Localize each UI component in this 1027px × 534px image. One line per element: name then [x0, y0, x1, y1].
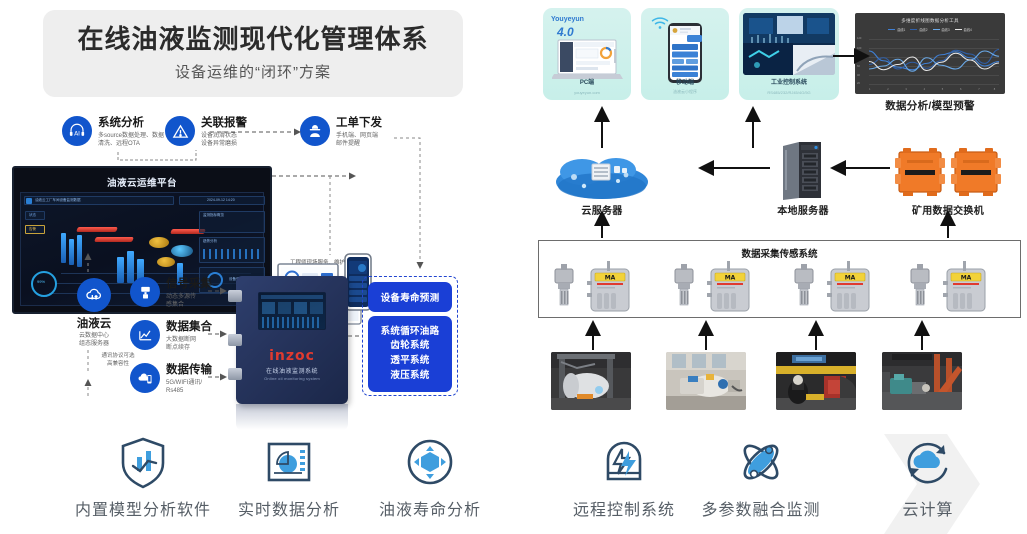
- svg-text:MA: MA: [605, 275, 616, 282]
- chart-legend: 曲线1 曲线2 曲线3 曲线4: [855, 27, 1005, 32]
- bottom-feature-label: 云计算: [843, 496, 1013, 520]
- device-screen: [258, 292, 326, 330]
- prediction-item: 系统循环油路: [381, 325, 440, 340]
- cloud-desc: 云数据中心 组态服务器: [58, 332, 130, 349]
- title-banner: 在线油液监测现代化管理体系 设备运维的“闭环”方案: [43, 10, 463, 97]
- feature-title: 关联报警: [201, 117, 247, 130]
- sensor-pair: MA: [667, 261, 763, 318]
- feature-data-aggregation: 数据集合 大数据断网 断点续存: [130, 320, 212, 352]
- data-chart-icon: [130, 320, 160, 350]
- laptop-icon: [552, 38, 624, 82]
- bottom-feature-label: 油液寿命分析: [345, 496, 515, 520]
- sensor-pair: MA: [547, 261, 643, 318]
- legend-item: 曲线3: [933, 27, 950, 32]
- card-label: 工业控制系统: [739, 77, 839, 86]
- legend-item: 曲线2: [910, 27, 927, 32]
- device-reflection: [236, 404, 348, 430]
- feature-desc: 设备润滑状态 设备异常磨损: [201, 132, 247, 148]
- prediction-systems-list: 系统循环油路 齿轮系统 透平系统 液压系统: [368, 316, 452, 392]
- worker-helmet-icon: [300, 116, 330, 146]
- device-branding: inzoc 在线油液监测系统 Online oil monitoring sys…: [236, 348, 348, 381]
- chart-caption: 数据分析/模型预警: [855, 98, 1005, 113]
- svg-text:MA: MA: [961, 275, 972, 282]
- equipment-photo-belt[interactable]: 皮带机: [882, 352, 962, 410]
- node-label-mining-switch: 矿用数据交换机: [888, 202, 1008, 217]
- equipment-photo-transfer[interactable]: 转载机: [551, 352, 631, 410]
- feature-title: 工单下发: [336, 117, 382, 130]
- feature-title: 系统分析: [98, 117, 164, 130]
- feature-system-analysis: AI 系统分析 多source数据处理、数据 清洗、远程OTA: [62, 116, 164, 148]
- cloud-refresh-icon: [843, 432, 1013, 494]
- smartphone-icon: [667, 22, 703, 84]
- svg-text:MA: MA: [725, 275, 736, 282]
- svg-text:AI: AI: [74, 131, 80, 138]
- feature-title: 数据集合: [166, 321, 212, 334]
- data-acquisition-sensor-system: 数据采集传感系统 MA: [538, 240, 1021, 318]
- dashboard-title: 油液云运维平台: [14, 168, 270, 189]
- feature-data-transfer: 数据传输 5G/WIFI通讯/ Rs485: [130, 363, 212, 395]
- cloud-server-icon: [552, 150, 652, 202]
- feature-desc: 大数据断网 断点续存: [166, 336, 212, 352]
- equipment-photo-crusher[interactable]: 破碎机: [666, 352, 746, 410]
- legend-item: 曲线1: [888, 27, 905, 32]
- sensor-pair: MA: [903, 261, 999, 318]
- ai-headset-icon: AI: [62, 116, 92, 146]
- warning-triangle-icon: [165, 116, 195, 146]
- node-label-cloud-server: 云服务器: [552, 202, 652, 217]
- card-sub: 油液云小程序: [641, 89, 729, 95]
- feature-desc: 5G/WIFI通讯/ Rs485: [166, 379, 212, 395]
- card-sub: youyeyun.com: [543, 90, 631, 95]
- mining-switch-icon: [893, 144, 1003, 200]
- device-name-en: Online oil monitoring system: [236, 376, 348, 381]
- card-brand: Youyeyun: [551, 16, 584, 23]
- page-title: 在线油液监测现代化管理体系: [77, 25, 428, 54]
- brand-name: inzoc: [236, 348, 348, 364]
- feature-title: 信号采集: [166, 278, 212, 291]
- card-label: 移动端: [641, 77, 729, 86]
- feature-title: 数据传输: [166, 364, 212, 377]
- card-version: 4.0: [557, 25, 574, 39]
- device-card-industrial[interactable]: 工业控制系统 RS485/232/RJ45/4G/5G: [739, 8, 839, 100]
- atom-orbit-icon: [676, 432, 846, 494]
- sensor-probe-icon: [130, 277, 160, 307]
- prediction-item: 齿轮系统: [390, 339, 429, 354]
- inzoc-monitoring-device[interactable]: inzoc 在线油液监测系统 Online oil monitoring sys…: [236, 276, 348, 404]
- bottom-feature-cloud-computing[interactable]: 云计算: [843, 432, 1013, 520]
- bottom-feature-label: 多参数融合监测: [676, 496, 846, 520]
- sensor-probe: [555, 264, 573, 305]
- page-subtitle: 设备运维的“闭环”方案: [175, 61, 331, 82]
- feature-signal-acquisition: 信号采集 动态多源传 感集合: [130, 277, 212, 309]
- feature-desc: 手机端、网页端 邮件提醒: [336, 132, 382, 148]
- card-label: PC端: [543, 77, 631, 86]
- node-label-local-server: 本地服务器: [763, 202, 843, 217]
- bottom-feature-row: 内置模型分析软件 实时数据分析: [0, 432, 1027, 534]
- oil-cloud-node: 油液云 云数据中心 组态服务器: [58, 278, 130, 349]
- feature-desc: 动态多源传 感集合: [166, 293, 212, 309]
- feature-linked-alarm: 关联报警 设备润滑状态 设备异常磨损: [165, 116, 247, 148]
- bottom-feature-multiparam-monitoring[interactable]: 多参数融合监测: [676, 432, 846, 520]
- tower-server-icon: [773, 140, 829, 202]
- prediction-header: 设备寿命预测: [368, 282, 452, 312]
- industrial-control-icon: [743, 13, 835, 75]
- infographic-root: 在线油液监测现代化管理体系 设备运维的“闭环”方案 AI 系统分析 多sourc…: [0, 0, 1027, 534]
- prediction-item: 液压系统: [390, 369, 429, 384]
- bottom-feature-builtin-model[interactable]: 内置模型分析软件: [58, 432, 228, 520]
- bottom-feature-oil-life-analysis[interactable]: 油液寿命分析: [345, 432, 515, 520]
- chart-plot-area: 120100 8060 4020 12 34 56 78: [869, 39, 999, 84]
- sensor-box-title: 数据采集传感系统: [539, 241, 1020, 260]
- cloud-title: 油液云: [58, 315, 130, 331]
- prediction-item: 透平系统: [390, 354, 429, 369]
- chart-title: 多维度折线图数据分析工具: [855, 13, 1005, 24]
- cube-arrows-icon: [345, 432, 515, 494]
- sensor-pair: MA: [787, 261, 883, 318]
- device-name-cn: 在线油液监测系统: [236, 366, 348, 375]
- feature-work-order: 工单下发 手机端、网页端 邮件提醒: [300, 116, 382, 148]
- data-transfer-icon: [130, 363, 160, 393]
- svg-text:MA: MA: [845, 275, 856, 282]
- device-card-pc[interactable]: Youyeyun 4.0 PC端 youyeyun.com: [543, 8, 631, 100]
- cloud-sync-icon: [77, 278, 111, 312]
- card-sub: RS485/232/RJ45/4G/5G: [739, 90, 839, 95]
- equipment-photo-conveyor[interactable]: 运输机: [776, 352, 856, 410]
- feature-desc: 多source数据处理、数据 清洗、远程OTA: [98, 132, 164, 148]
- legend-item: 曲线4: [955, 27, 972, 32]
- shield-chart-icon: [58, 432, 228, 494]
- bottom-feature-label: 内置模型分析软件: [58, 496, 228, 520]
- sensor-transmitter: MA: [587, 261, 629, 311]
- life-prediction-panel: 设备寿命预测 系统循环油路 齿轮系统 透平系统 液压系统: [362, 276, 458, 396]
- chart-lines: [869, 39, 999, 84]
- data-analysis-chart[interactable]: 多维度折线图数据分析工具 曲线1 曲线2 曲线3 曲线4 120100 8060…: [855, 13, 1005, 94]
- device-card-mobile[interactable]: 移动端 油液云小程序: [641, 8, 729, 100]
